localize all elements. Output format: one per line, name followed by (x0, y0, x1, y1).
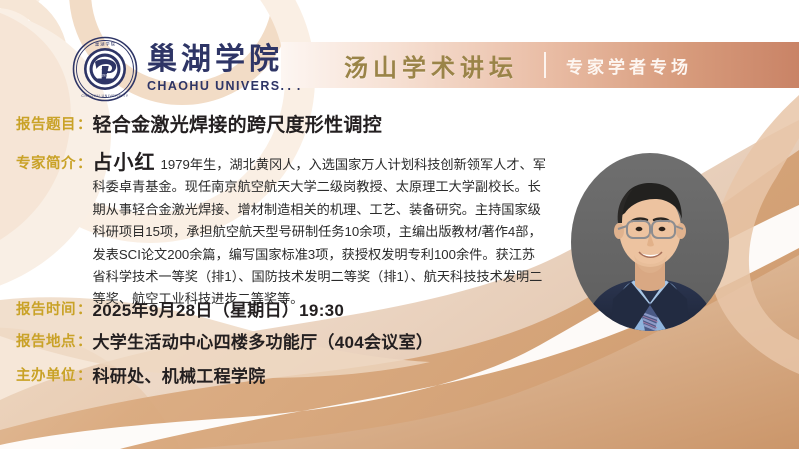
lecture-host-row: 主办单位 ： 科研处、机械工程学院 (16, 362, 266, 387)
poster-root: 1977 巢 湖 学 院 CHAOHU UNIVERSITY 巢湖学院 CHAO… (0, 0, 799, 449)
lecture-place-label: 报告地点 (16, 330, 76, 351)
lecture-time-value: 2025年9月28日（星期日）19:30 (93, 296, 345, 321)
lecture-host-value: 科研处、机械工程学院 (93, 362, 266, 387)
speaker-bio-label: 专家简介 (16, 152, 76, 173)
lecture-time-label: 报告时间 (16, 298, 76, 319)
speaker-bio-body: 占小红1979年生，湖北黄冈人，入选国家万人计划科技创新领军人才、军科委卓青基金… (93, 152, 548, 311)
speaker-name: 占小红 (93, 152, 156, 174)
speaker-bio-row: 专家简介 ： 占小红1979年生，湖北黄冈人，入选国家万人计划科技创新领军人才、… (16, 152, 548, 311)
lecture-title-row: 报告题目 ： 轻合金激光焊接的跨尺度形性调控 (16, 110, 382, 137)
lecture-place-row: 报告地点 ： 大学生活动中心四楼多功能厅（404会议室） (16, 328, 433, 353)
speaker-portrait (571, 153, 729, 331)
lecture-place-colon: ： (77, 330, 92, 351)
lecture-host-colon: ： (77, 364, 92, 385)
lecture-time-row: 报告时间 ： 2025年9月28日（星期日）19:30 (16, 296, 344, 321)
speaker-bio-text-block: 占小红1979年生，湖北黄冈人，入选国家万人计划科技创新领军人才、军科委卓青基金… (93, 157, 546, 306)
lecture-title-colon: ： (77, 113, 92, 134)
lecture-place-value: 大学生活动中心四楼多功能厅（404会议室） (93, 328, 434, 353)
lecture-title-label: 报告题目 (16, 113, 76, 134)
speaker-bio-text: 1979年生，湖北黄冈人，入选国家万人计划科技创新领军人才、军科委卓青基金。现任… (93, 157, 546, 306)
lecture-host-label: 主办单位 (16, 364, 76, 385)
lecture-time-colon: ： (77, 298, 92, 319)
lecture-title-value: 轻合金激光焊接的跨尺度形性调控 (93, 110, 383, 137)
speaker-bio-colon: ： (77, 152, 92, 173)
